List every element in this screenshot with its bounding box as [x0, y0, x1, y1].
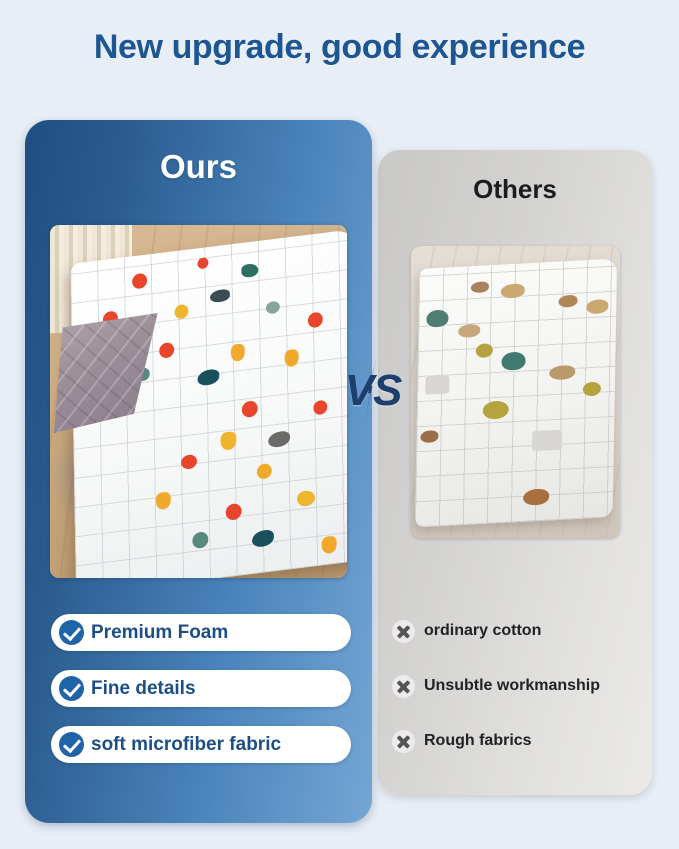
- feature-label: soft microfiber fabric: [91, 734, 281, 756]
- others-feature-list: ordinary cotton Unsubtle workmanship Rou…: [392, 616, 652, 781]
- others-panel: Others ordinary cotton: [378, 150, 652, 795]
- vs-badge: VS: [336, 360, 410, 422]
- drawback-label: ordinary cotton: [424, 622, 541, 640]
- others-product-photo: [411, 246, 620, 538]
- ours-product-photo: [50, 225, 347, 578]
- feature-item: Premium Foam: [51, 614, 351, 651]
- ours-panel: Ours: [25, 120, 372, 823]
- check-circle-icon: [59, 732, 84, 757]
- feature-item: Fine details: [51, 670, 351, 707]
- page-title: New upgrade, good experience: [0, 28, 679, 67]
- drawback-label: Rough fabrics: [424, 732, 532, 750]
- feature-item: soft microfiber fabric: [51, 726, 351, 763]
- feature-label: Fine details: [91, 678, 196, 700]
- check-circle-icon: [59, 676, 84, 701]
- newspaper-motif: [425, 375, 449, 394]
- x-circle-icon: [392, 620, 415, 643]
- drawback-item: ordinary cotton: [392, 616, 652, 646]
- drawback-item: Rough fabrics: [392, 726, 652, 756]
- drawback-label: Unsubtle workmanship: [424, 677, 600, 695]
- ours-feature-list: Premium Foam Fine details soft microfibe…: [51, 614, 351, 782]
- ours-heading: Ours: [25, 148, 372, 186]
- drawback-item: Unsubtle workmanship: [392, 671, 652, 701]
- check-circle-icon: [59, 620, 84, 645]
- others-heading: Others: [378, 174, 652, 205]
- vs-label: VS: [345, 366, 402, 415]
- feature-label: Premium Foam: [91, 622, 228, 644]
- x-circle-icon: [392, 675, 415, 698]
- ordinary-quilted-mat: [415, 259, 617, 528]
- x-circle-icon: [392, 730, 415, 753]
- newspaper-motif: [532, 430, 562, 452]
